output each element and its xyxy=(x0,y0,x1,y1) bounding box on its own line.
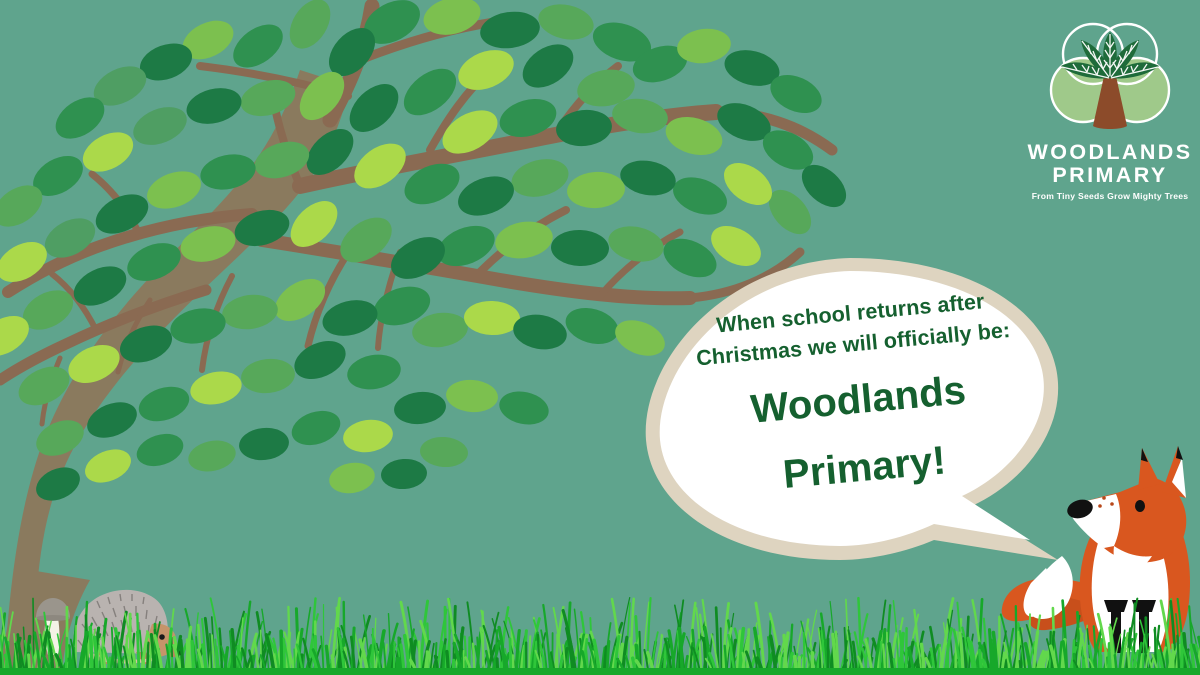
tree-in-circles-icon xyxy=(1035,18,1185,136)
school-logo: WOODLANDS PRIMARY From Tiny Seeds Grow M… xyxy=(1026,18,1194,210)
logo-title-line1: WOODLANDS xyxy=(1026,141,1194,164)
logo-tagline: From Tiny Seeds Grow Mighty Trees xyxy=(1026,191,1194,201)
logo-title-line2: PRIMARY xyxy=(1026,164,1194,187)
grass-band xyxy=(0,0,1200,675)
poster-canvas: When school returns after Christmas we w… xyxy=(0,0,1200,675)
